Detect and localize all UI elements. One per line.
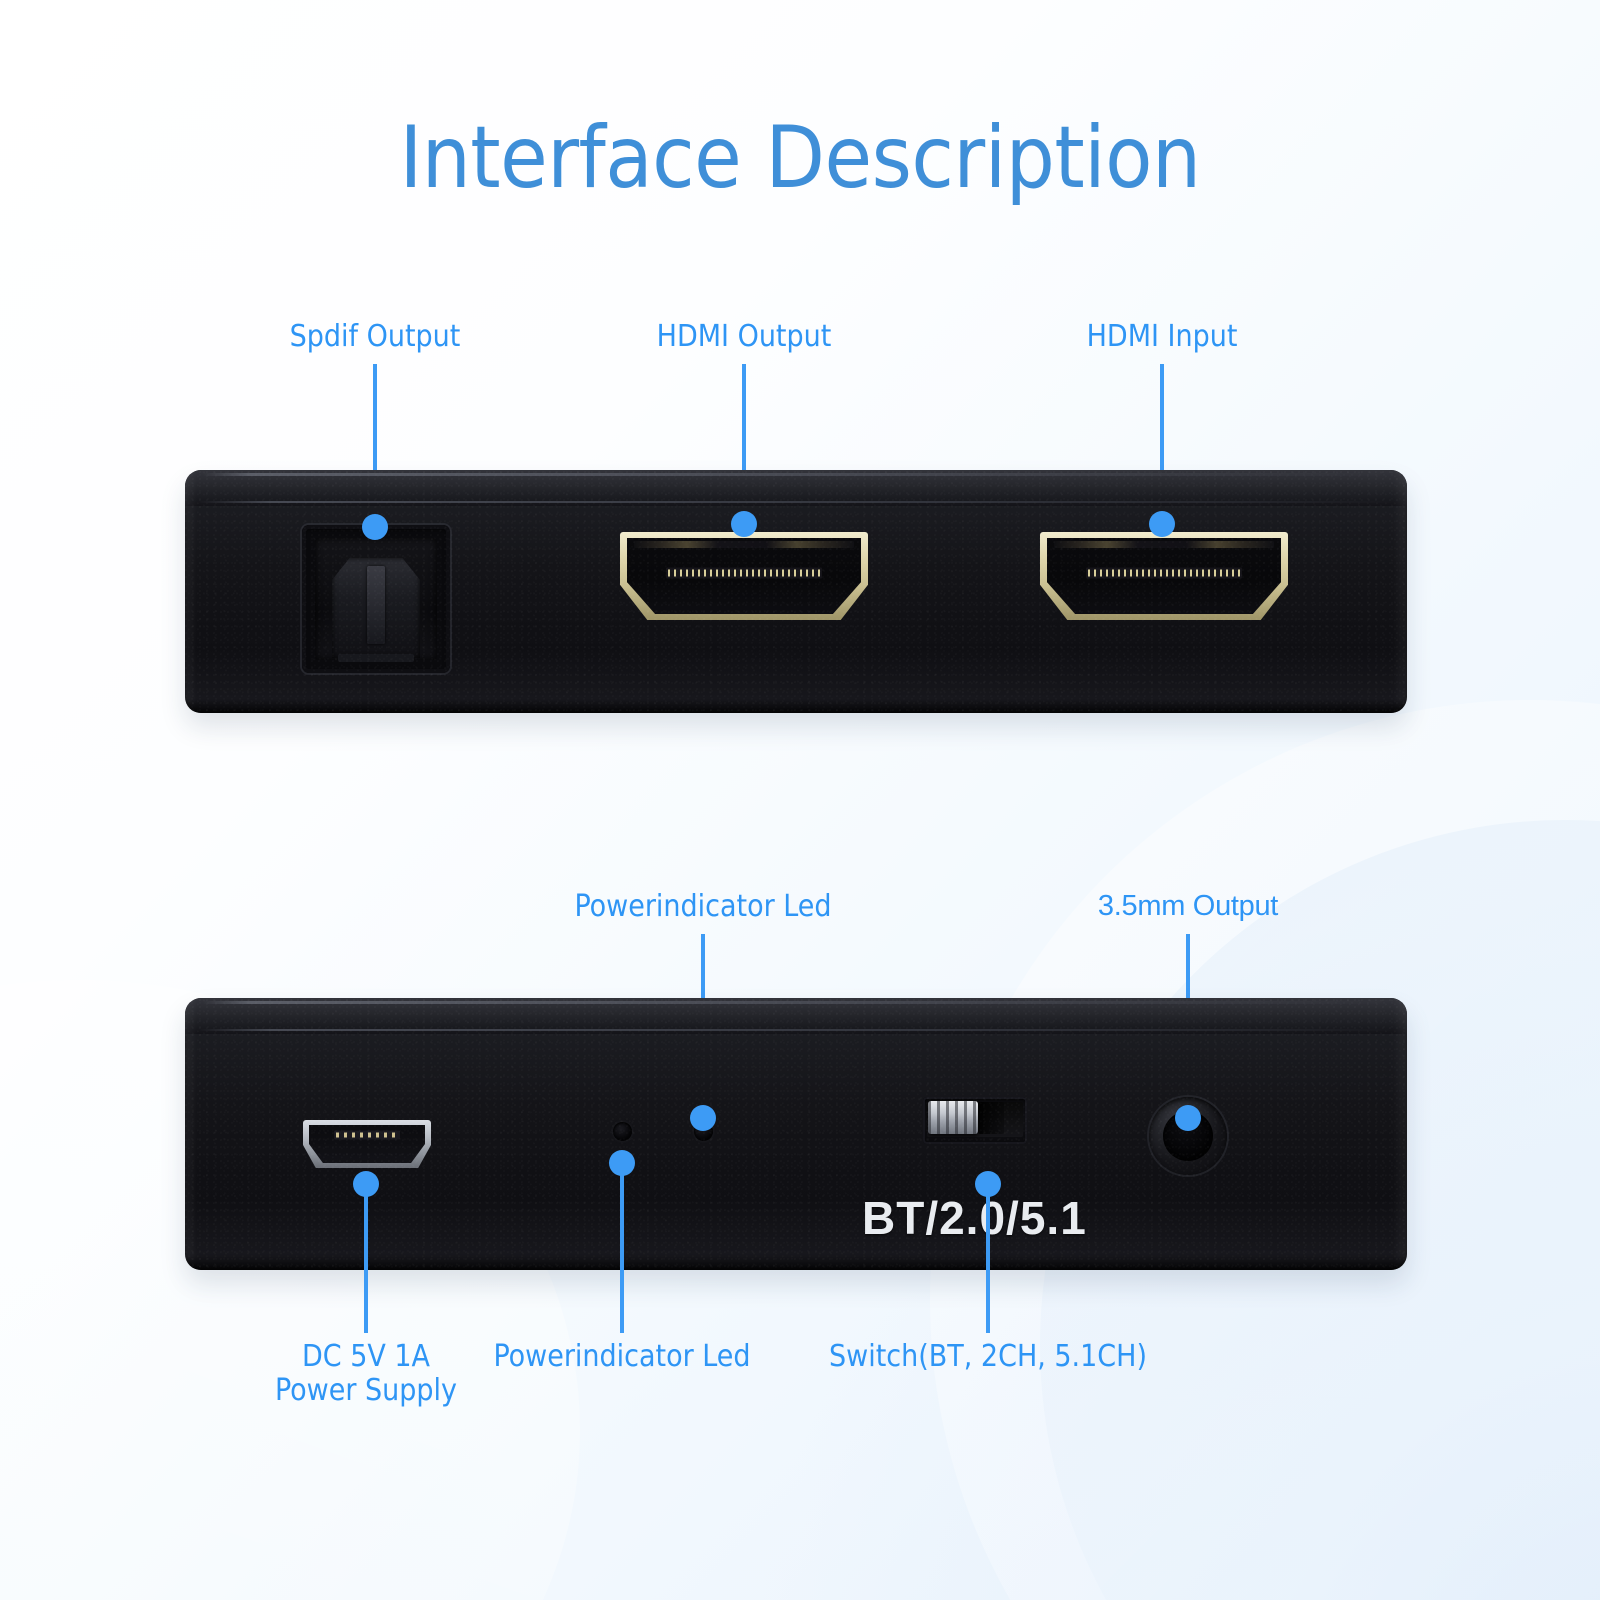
device-lid-highlight — [203, 473, 1389, 476]
page-title: Interface Description — [0, 108, 1600, 208]
callout-dot-dc-power-supply — [353, 1171, 379, 1197]
callout-label-power-indicator-led-bottom: Powerindicator Led — [493, 1340, 750, 1374]
callout-label-audio-output-35mm: 3.5mm Output — [1098, 890, 1278, 922]
device-front-panel: BT/2.0/5.1 — [185, 998, 1407, 1270]
toslink-foot — [338, 654, 414, 662]
device-front-lid-seam — [199, 1029, 1393, 1031]
leader-line-dc-power-supply — [364, 1185, 368, 1333]
device-front-right-edge — [1393, 998, 1407, 1270]
device-lid-edge — [185, 470, 1407, 506]
hdmi-output-pin-row — [666, 568, 822, 579]
callout-label-dc-power-supply: DC 5V 1A Power Supply — [275, 1340, 457, 1407]
device-front-left-edge — [185, 998, 197, 1270]
callout-dot-hdmi-output — [731, 511, 757, 537]
callout-label-hdmi-input: HDMI Input — [1087, 320, 1238, 354]
callout-dot-power-indicator-led-bottom — [609, 1150, 635, 1176]
hdmi-output-port[interactable] — [620, 532, 868, 620]
device-front-lid-highlight — [203, 1001, 1389, 1004]
spdif-port-recess — [315, 538, 437, 660]
device-bottom-edge — [185, 699, 1407, 713]
mode-slide-switch[interactable] — [923, 1097, 1027, 1144]
dc-power-supply-line2: Power Supply — [275, 1374, 457, 1408]
hdmi-input-top-lip — [1054, 541, 1274, 548]
micro-usb-power-port[interactable] — [303, 1120, 431, 1168]
toslink-slot — [367, 566, 385, 644]
callout-dot-power-indicator-led-top — [690, 1105, 716, 1131]
switch-knob[interactable] — [928, 1101, 978, 1134]
callout-label-power-indicator-led-top: Powerindicator Led — [574, 890, 831, 924]
callout-dot-mode-switch — [975, 1171, 1001, 1197]
callout-dot-spdif-output — [362, 514, 388, 540]
callout-label-hdmi-output: HDMI Output — [657, 320, 832, 354]
hdmi-input-pin-row — [1086, 568, 1242, 579]
callout-label-spdif-output: Spdif Output — [290, 320, 461, 354]
callout-label-mode-switch: Switch(BT, 2CH, 5.1CH) — [829, 1340, 1147, 1374]
switch-knob-shadow — [978, 1102, 1004, 1134]
device-front-lid-edge — [185, 998, 1407, 1034]
toslink-connector-shape — [332, 558, 420, 658]
device-lid-seam — [199, 501, 1393, 503]
device-right-edge — [1393, 470, 1407, 713]
silkscreen-mode-legend: BT/2.0/5.1 — [862, 1191, 1087, 1245]
spdif-optical-port[interactable] — [302, 525, 450, 673]
micro-usb-pin-row — [334, 1131, 400, 1140]
device-rear-panel — [185, 470, 1407, 713]
device-left-edge — [185, 470, 197, 713]
device-front-bottom-edge — [185, 1256, 1407, 1270]
power-indicator-led-left — [613, 1122, 632, 1141]
leader-line-mode-switch — [986, 1185, 990, 1333]
leader-line-power-indicator-led-bottom — [620, 1165, 624, 1333]
page-background: Interface Description Spdif Output HDMI … — [0, 0, 1600, 1600]
dc-power-supply-line1: DC 5V 1A — [302, 1339, 430, 1374]
callout-dot-audio-output-35mm — [1175, 1105, 1201, 1131]
hdmi-output-top-lip — [634, 541, 854, 548]
hdmi-input-port[interactable] — [1040, 532, 1288, 620]
callout-dot-hdmi-input — [1149, 511, 1175, 537]
